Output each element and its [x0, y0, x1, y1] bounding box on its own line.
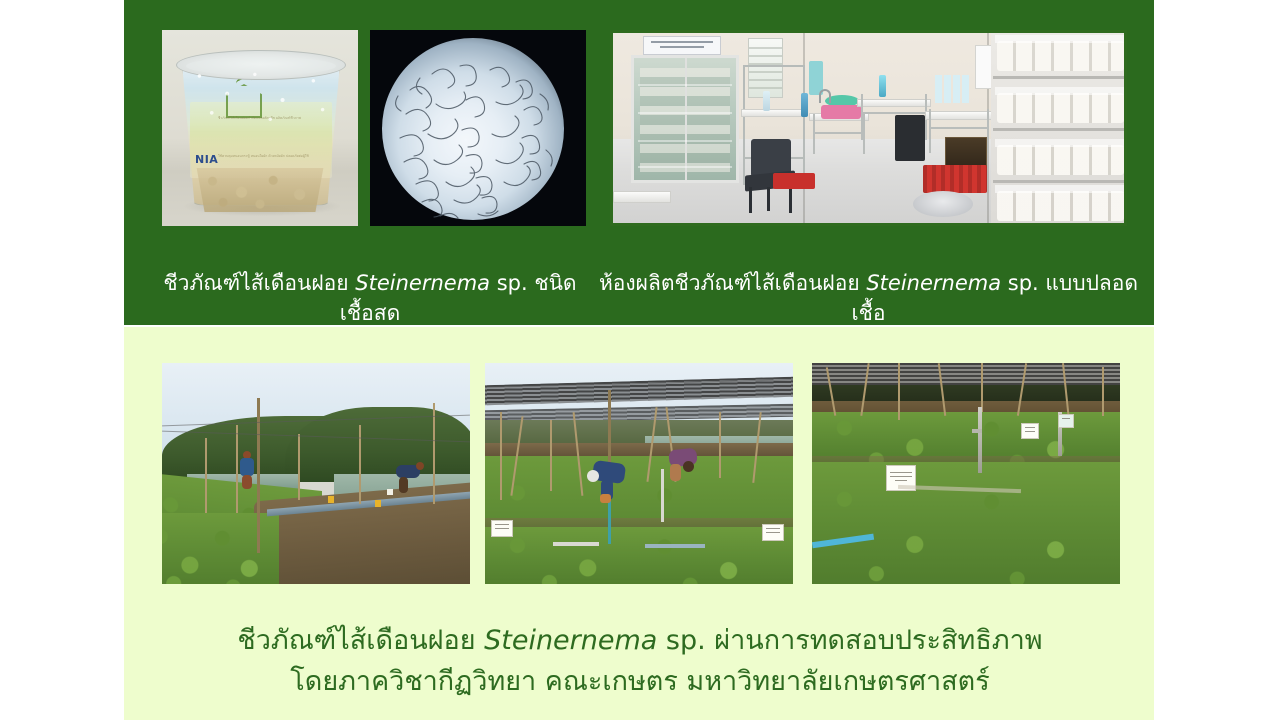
- field-trial-photo-3: [812, 363, 1120, 584]
- caption-bottom-species: Steinernema: [484, 625, 657, 656]
- incubator-cabinet: [631, 55, 739, 183]
- caption-top-left-species: Steinernema: [355, 271, 490, 295]
- field-trial-photo-2: [485, 363, 793, 584]
- caption-bottom: ชีวภัณฑ์ไส้เดือนฝอย Steinernema sp. ผ่าน…: [146, 620, 1134, 702]
- caption-top-right-species: Steinernema: [866, 271, 1001, 295]
- slide-canvas: ชีวภัณฑ์ไส้เดือนฝอยกำจัดแมลงศัตรูพืช ผลิ…: [0, 0, 1280, 720]
- field-trial-photo-1: [162, 363, 470, 584]
- microscope-nematodes-photo: [370, 30, 586, 226]
- nia-brand-label: NIA: [195, 153, 218, 166]
- caption-top-right: ห้องผลิตชีวภัณฑ์ไส้เดือนฝอย Steinernema …: [596, 238, 1141, 328]
- room-sign: [643, 36, 721, 55]
- caption-bottom-post: sp. ผ่านการทดสอบประสิทธิภาพ: [657, 625, 1042, 656]
- caption-top-right-pre: ห้องผลิตชีวภัณฑ์ไส้เดือนฝอย: [599, 271, 866, 295]
- production-room-photo: [610, 30, 1127, 226]
- product-bucket-photo: ชีวภัณฑ์ไส้เดือนฝอยกำจัดแมลงศัตรูพืช ผลิ…: [162, 30, 358, 226]
- caption-top-left-pre: ชีวภัณฑ์ไส้เดือนฝอย: [163, 271, 355, 295]
- caption-bottom-line2: โดยภาควิชากีฏวิทยา คณะเกษตร มหาวิทยาลัยเ…: [146, 661, 1134, 702]
- culture-tray-shelves: [991, 33, 1124, 223]
- caption-bottom-pre: ชีวภัณฑ์ไส้เดือนฝอย: [237, 625, 484, 656]
- caption-bottom-line1: ชีวภัณฑ์ไส้เดือนฝอย Steinernema sp. ผ่าน…: [146, 620, 1134, 661]
- nematode-traces: [370, 30, 586, 226]
